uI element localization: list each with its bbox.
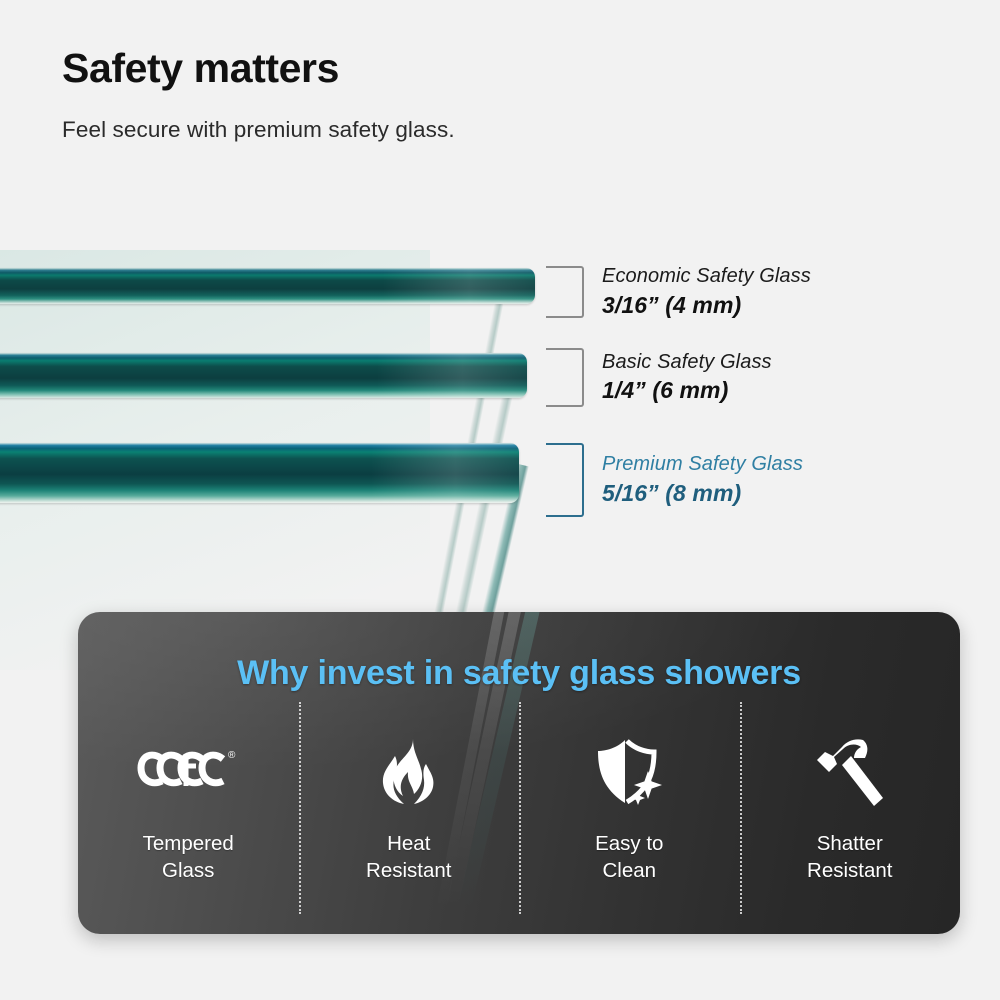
svg-text:®: ®	[228, 750, 236, 761]
callout-economic[interactable]: Economic Safety Glass 3/16” (4 mm)	[546, 265, 811, 319]
header-block: Safety matters Feel secure with premium …	[62, 46, 762, 144]
feature-shatter-resistant[interactable]: Shatter Resistant	[740, 730, 961, 884]
callout-basic[interactable]: Basic Safety Glass 1/4” (6 mm)	[546, 348, 772, 407]
glass-stack-illustration	[0, 240, 620, 660]
sgcc-logo-icon: ®	[136, 736, 240, 810]
page-title: Safety matters	[62, 46, 762, 90]
hammer-icon	[811, 736, 889, 810]
feature-label: Shatter Resistant	[807, 830, 892, 884]
glass-slab-economic	[0, 268, 535, 304]
flame-icon	[380, 736, 438, 810]
page-subtitle: Feel secure with premium safety glass.	[62, 116, 762, 144]
feature-card: Why invest in safety glass showers	[78, 612, 960, 934]
glass-slab-basic	[0, 353, 527, 398]
card-title: Why invest in safety glass showers	[78, 654, 960, 693]
feature-tempered-glass[interactable]: ® Tempered Glass	[78, 730, 299, 884]
callout-name: Basic Safety Glass	[602, 351, 772, 375]
callout-bracket-icon	[546, 443, 584, 517]
callout-thickness: 1/4” (6 mm)	[602, 377, 772, 404]
feature-label: Heat Resistant	[366, 830, 451, 884]
feature-easy-to-clean[interactable]: Easy to Clean	[519, 730, 740, 884]
callout-thickness: 5/16” (8 mm)	[602, 480, 803, 507]
callout-bracket-icon	[546, 348, 584, 407]
feature-heat-resistant[interactable]: Heat Resistant	[299, 730, 520, 884]
page-background: Safety matters Feel secure with premium …	[0, 0, 1000, 1000]
feature-list: ® Tempered Glass Heat Resistant	[78, 730, 960, 910]
callout-thickness: 3/16” (4 mm)	[602, 292, 811, 319]
feature-label: Easy to Clean	[595, 830, 663, 884]
feature-label: Tempered Glass	[143, 830, 234, 884]
callout-premium[interactable]: Premium Safety Glass 5/16” (8 mm)	[546, 443, 803, 517]
callout-name: Premium Safety Glass	[602, 453, 803, 477]
callout-bracket-icon	[546, 266, 584, 318]
shield-sparkle-icon	[593, 736, 665, 810]
glass-slab-premium	[0, 443, 519, 503]
callout-name: Economic Safety Glass	[602, 265, 811, 289]
